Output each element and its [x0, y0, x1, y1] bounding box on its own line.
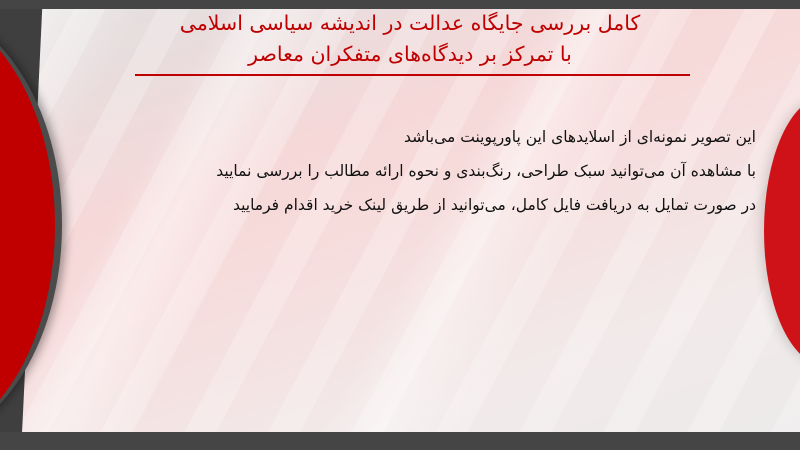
- slide-frame-bottom-bar: [0, 432, 800, 450]
- slide-title: کامل بررسی جایگاه عدالت در اندیشه سیاسی …: [60, 8, 760, 70]
- body-line-2: با مشاهده آن می‌توانید سبک طراحی، رنگ‌بن…: [56, 154, 756, 188]
- body-line-1: این تصویر نمونه‌ای از اسلایدهای این پاور…: [56, 120, 756, 154]
- slide-body-text: این تصویر نمونه‌ای از اسلایدهای این پاور…: [56, 120, 756, 222]
- slide-title-line-2: با تمرکز بر دیدگاه‌های متفکران معاصر: [60, 39, 760, 70]
- title-underline-rule: [135, 74, 690, 76]
- slide-title-line-1: کامل بررسی جایگاه عدالت در اندیشه سیاسی …: [60, 8, 760, 39]
- presentation-slide: کامل بررسی جایگاه عدالت در اندیشه سیاسی …: [0, 0, 800, 450]
- body-line-3: در صورت تمایل به دریافت فایل کامل، می‌تو…: [56, 188, 756, 222]
